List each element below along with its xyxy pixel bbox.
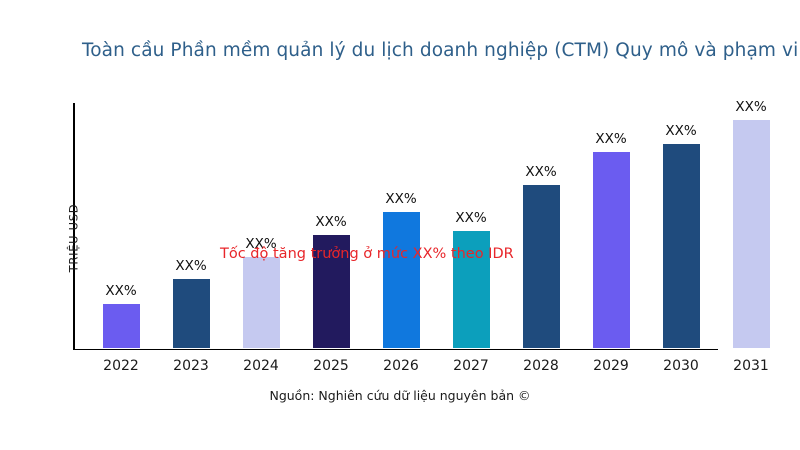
x-tick-2028: 2028	[506, 358, 576, 374]
bar-2028[interactable]: XX%	[523, 185, 560, 349]
bar-value-label-2026: XX%	[372, 191, 431, 207]
x-tick-2031: 2031	[716, 358, 786, 374]
bar-2030[interactable]: XX%	[663, 144, 700, 348]
bar-value-label-2028: XX%	[512, 164, 571, 180]
growth-rate-annotation: Tốc độ tăng trưởng ở mức XX% theo IDR	[220, 246, 514, 262]
x-tick-2023: 2023	[156, 358, 226, 374]
bar-value-label-2023: XX%	[162, 258, 221, 274]
bar-rect-2024[interactable]	[243, 257, 280, 348]
plot-area: TRIỆU USD XX%XX%XX%XX%XX%XX%XX%XX%XX%XX%…	[73, 103, 800, 350]
bar-2024[interactable]: XX%	[243, 257, 280, 348]
x-tick-2025: 2025	[296, 358, 366, 374]
bar-rect-2022[interactable]	[103, 304, 140, 349]
bar-2023[interactable]: XX%	[173, 279, 210, 348]
bar-2031[interactable]: XX%	[733, 120, 770, 348]
bar-rect-2023[interactable]	[173, 279, 210, 348]
bar-rect-2029[interactable]	[593, 152, 630, 348]
bar-rect-2031[interactable]	[733, 120, 770, 348]
bar-rect-2028[interactable]	[523, 185, 560, 349]
x-tick-2022: 2022	[86, 358, 156, 374]
x-tick-2027: 2027	[436, 358, 506, 374]
bar-2029[interactable]: XX%	[593, 152, 630, 348]
bar-value-label-2025: XX%	[302, 214, 361, 230]
chart-title: Toàn cầu Phần mềm quản lý du lịch doanh …	[82, 38, 800, 64]
x-tick-2030: 2030	[646, 358, 716, 374]
x-tick-2026: 2026	[366, 358, 436, 374]
bar-2026[interactable]: XX%	[383, 212, 420, 348]
bar-rect-2026[interactable]	[383, 212, 420, 348]
bar-value-label-2027: XX%	[442, 210, 501, 226]
chart-container: Toàn cầu Phần mềm quản lý du lịch doanh …	[0, 0, 800, 450]
x-tick-2029: 2029	[576, 358, 646, 374]
bar-value-label-2030: XX%	[652, 123, 711, 139]
bar-value-label-2029: XX%	[582, 131, 641, 147]
bar-rect-2030[interactable]	[663, 144, 700, 348]
bar-2022[interactable]: XX%	[103, 304, 140, 349]
bar-value-label-2022: XX%	[92, 283, 151, 299]
y-axis-title: TRIỆU USD	[66, 204, 80, 273]
x-axis-line	[73, 349, 718, 351]
source-note: Nguồn: Nghiên cứu dữ liệu nguyên bản ©	[0, 388, 800, 403]
x-tick-2024: 2024	[226, 358, 296, 374]
bar-value-label-2031: XX%	[722, 99, 781, 115]
